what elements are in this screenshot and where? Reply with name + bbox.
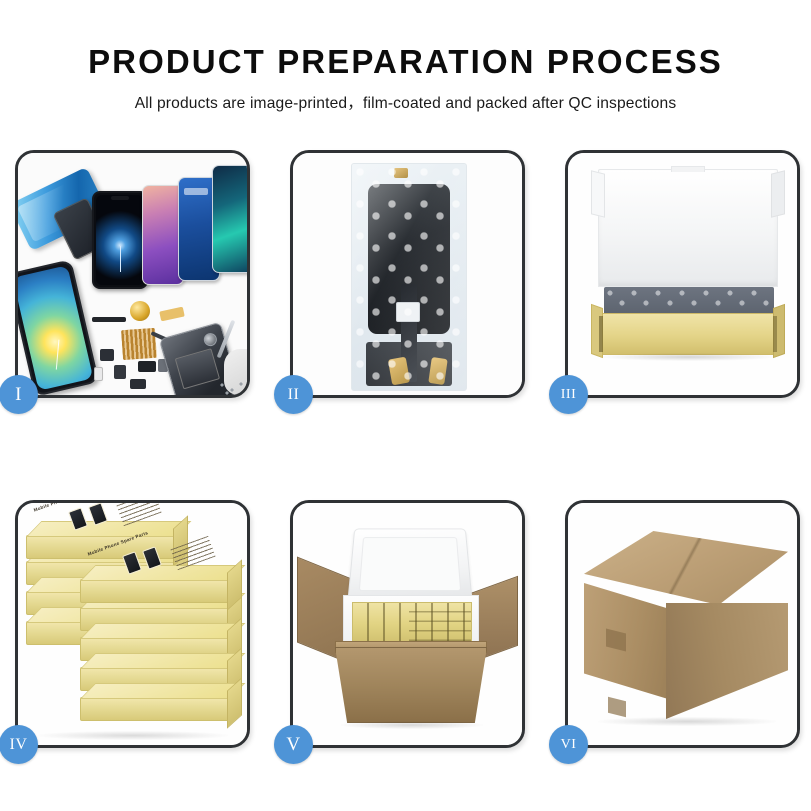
step-badge-6: VI — [549, 725, 588, 764]
box-top-face — [26, 521, 191, 537]
lid-tab-right — [771, 170, 785, 217]
small-part — [114, 365, 126, 379]
gold-box-stack: Mobile Phone Spare Parts Mobile Phone Sp… — [24, 521, 247, 733]
drop-shadow — [598, 717, 776, 726]
small-part — [100, 349, 114, 361]
page-title: PRODUCT PREPARATION PROCESS — [0, 44, 811, 81]
box-top-face — [80, 623, 245, 639]
large-front-phone — [18, 259, 99, 395]
step-badge-3: III — [549, 375, 588, 414]
gold-inner-box — [594, 313, 782, 355]
camera-module — [202, 332, 218, 348]
teal-gradient-phone — [212, 165, 247, 273]
small-part — [138, 361, 156, 372]
white-box-lid — [598, 169, 778, 287]
drop-shadow — [341, 721, 483, 729]
carton-left-face — [584, 583, 668, 699]
process-step-6: VI — [565, 500, 800, 748]
box-top-face — [80, 653, 245, 669]
phone-screen — [18, 265, 93, 391]
box-corner-shadow — [599, 316, 603, 352]
drop-shadow — [602, 353, 774, 361]
step-2-photo — [293, 153, 522, 395]
box-corner-shadow — [773, 316, 777, 352]
process-step-5: V — [290, 500, 525, 748]
process-step-1: I — [15, 150, 250, 398]
cracked-screen-phone — [92, 191, 148, 289]
small-part — [94, 367, 103, 381]
gold-box — [80, 697, 230, 721]
screws — [218, 381, 246, 395]
step-3-photo — [568, 153, 797, 395]
flex-cable-part — [159, 307, 185, 322]
process-step-4: Mobile Phone Spare Parts Mobile Phone Sp… — [15, 500, 250, 748]
box-top-face — [80, 565, 245, 581]
product-preparation-infographic: PRODUCT PREPARATION PROCESS All products… — [0, 0, 811, 811]
process-steps-grid: I II — [15, 150, 800, 748]
step-badge-5: V — [274, 725, 313, 764]
bubble-wrap-bag — [351, 163, 467, 391]
gold-box-top: Mobile Phone Spare Parts — [80, 579, 230, 603]
page-subtitle: All products are image-printed，film-coat… — [0, 91, 811, 113]
step-5-photo — [293, 503, 522, 745]
step-6-photo — [568, 503, 797, 745]
plastic-sheen — [352, 164, 466, 390]
drop-shadow — [38, 731, 228, 740]
process-step-2: II — [290, 150, 525, 398]
lid-tab-left — [591, 170, 605, 217]
header: PRODUCT PREPARATION PROCESS All products… — [0, 0, 811, 113]
step-1-photo — [18, 153, 247, 395]
phone-notch — [111, 196, 129, 200]
step-4-photo: Mobile Phone Spare Parts Mobile Phone Sp… — [18, 503, 247, 745]
speaker-strip-part — [92, 317, 126, 322]
gold-component — [130, 301, 150, 321]
step-badge-4: IV — [0, 725, 38, 764]
lid-notch — [671, 166, 705, 172]
crack-line — [120, 246, 121, 272]
gold-boxes-inside — [352, 602, 472, 646]
battery — [175, 348, 220, 389]
box-print-label: Mobile Phone Spare Parts — [33, 503, 95, 513]
foam-box-lid — [347, 528, 472, 601]
box-top-face — [80, 683, 245, 699]
small-part — [130, 379, 146, 389]
carton-right-face — [666, 603, 788, 719]
phone-ui-widget — [184, 188, 208, 195]
step-badge-1: I — [0, 375, 38, 414]
carton-front-panel — [335, 647, 487, 723]
step-badge-2: II — [274, 375, 313, 414]
carton-tape-patch — [608, 697, 626, 717]
process-step-3: III — [565, 150, 800, 398]
box-divider-lines — [409, 603, 471, 645]
